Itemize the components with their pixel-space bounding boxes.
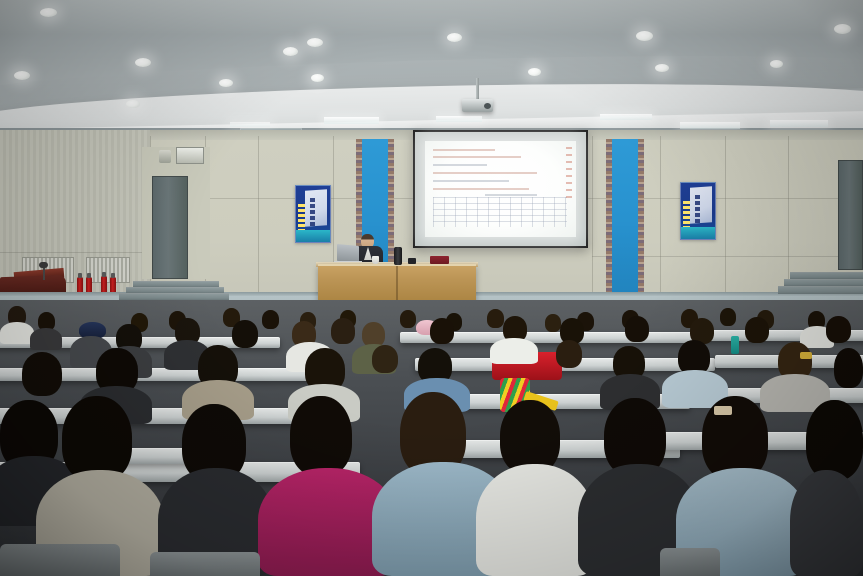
desk-small-device [408,258,416,264]
wall-speaker-icon [159,150,171,163]
poster-text-column [298,204,305,230]
wall-seam [788,136,789,288]
audience-head [400,310,416,328]
audience-head [487,309,504,328]
audience-head [826,316,851,343]
wall-seam [333,136,334,266]
poster-graphic [690,186,712,224]
projector-lens-icon [484,103,491,109]
audience-head [500,400,560,474]
stage-step [784,279,863,286]
audience-person [490,338,538,364]
ceiling-light-tube [324,117,379,124]
poster-title-column [695,195,700,225]
microphone-icon [39,262,48,268]
red-box-item [430,256,449,264]
audience-head [834,348,863,388]
downlight-icon [126,100,140,108]
wall-seam [0,252,150,253]
ceiling-light-tube [770,120,828,127]
slide-text-line [485,194,537,196]
poster-title-column [310,198,315,228]
audience-head [556,340,582,368]
downlight-icon [655,64,669,72]
audience-head [22,352,62,396]
audience-person [30,328,62,350]
slide-text-line [433,164,487,166]
wall-seam [660,136,661,296]
audience-head [232,320,258,348]
audience-person [0,322,34,344]
wall-seam [725,136,726,294]
ceiling-upper-band [0,0,863,34]
ceiling-light-tube [230,122,270,127]
downlight-icon [636,31,653,41]
slide-text-line [433,156,521,158]
stage-step [778,286,863,294]
slide-text-line [433,172,537,174]
left-poster [295,185,331,243]
poster-text-column [683,201,690,227]
blue-decorative-strip-right [612,139,638,299]
audience-head [806,400,863,480]
right-poster [680,182,716,240]
poster-graphic [305,189,327,227]
paper-cup [372,256,379,264]
thermos-bottle [394,247,402,265]
chair-back [660,548,720,576]
downlight-icon [40,8,57,17]
audience-head [331,318,355,344]
audience-person [790,470,863,576]
right-stage-door[interactable] [838,160,863,270]
ceiling-light-tube [680,122,740,129]
projected-slide [425,141,576,237]
downlight-icon [834,24,851,34]
ceiling-light-tube [600,114,652,120]
downlight-icon [447,33,462,42]
wall-monitor [176,147,204,164]
left-stage-door[interactable] [152,176,188,279]
audience-head [545,314,561,332]
audience-head [372,345,398,373]
downlight-icon [219,79,233,87]
hair-clip-icon [714,406,732,415]
ceiling-light-tube [436,116,482,122]
slide-text-line [433,149,495,151]
lecture-hall-photo [0,0,863,576]
poster-footer-band [296,230,330,242]
audience-head [625,316,649,342]
wall-seam [592,136,593,296]
audience-head [720,308,736,326]
chair-back [150,552,260,576]
hair-clip-icon [800,352,812,359]
downlight-icon [311,74,324,82]
audience-person [476,464,594,576]
downlight-icon [770,60,783,68]
audience-head [290,396,352,476]
downlight-icon [135,58,151,67]
stage-step [790,272,863,279]
wall-vent [86,257,130,283]
wall-seam [258,136,259,296]
slide-text-line [433,180,509,182]
stage-step [119,293,229,300]
downlight-icon [283,47,298,56]
chair-back [0,544,120,576]
downlight-icon [14,71,30,80]
downlight-icon [528,68,541,76]
downlight-icon [307,38,323,47]
teal-bottle [731,336,739,354]
slide-text-line [433,188,529,190]
slide-table [433,197,567,227]
slide-bullet-column [566,147,572,199]
poster-footer-band [681,227,715,239]
audience-head [262,310,279,329]
microphone-stand [43,266,45,280]
audience-head [430,318,454,344]
audience-head [745,317,769,343]
